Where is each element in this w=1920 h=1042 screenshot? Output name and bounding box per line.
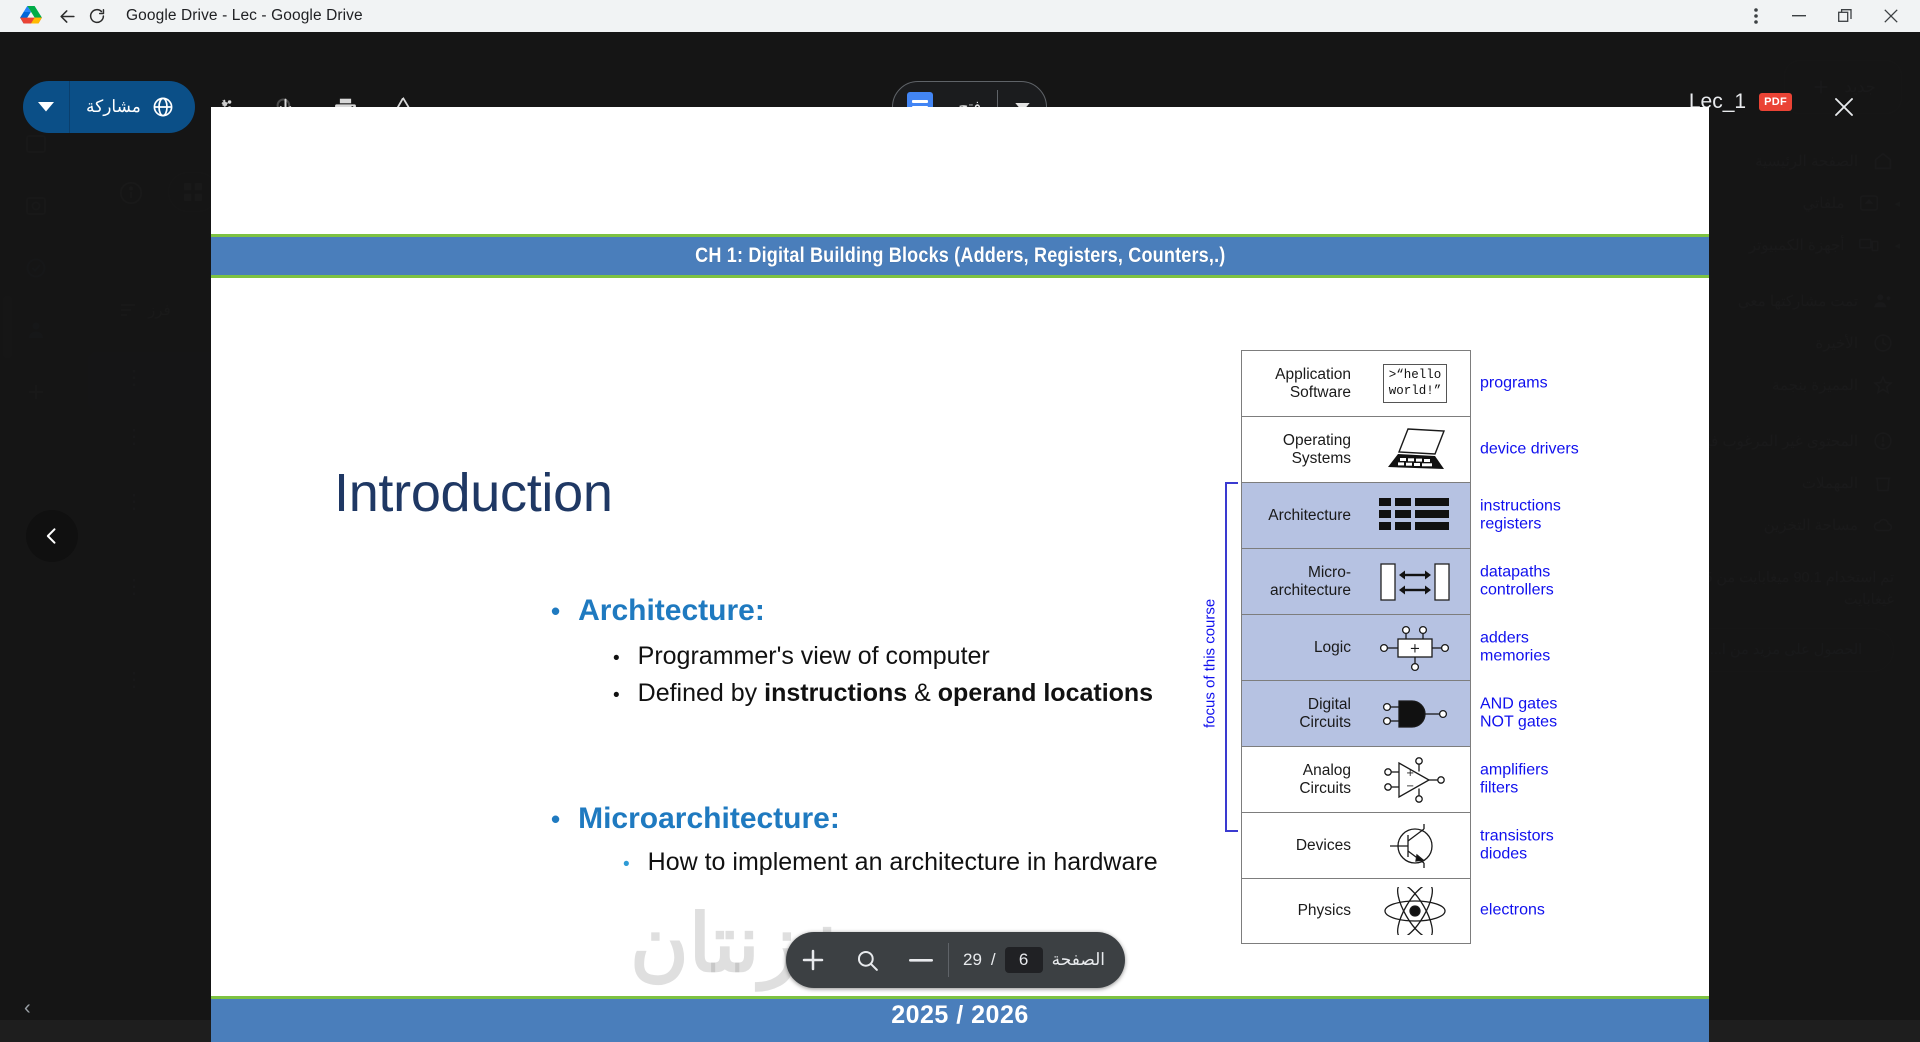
slide-header-band: CH 1: Digital Building Blocks (Adders, R… bbox=[211, 234, 1709, 278]
and-gate-icon bbox=[1360, 681, 1470, 746]
window-controls bbox=[1736, 0, 1914, 32]
transistor-icon bbox=[1360, 813, 1470, 878]
globe-icon bbox=[151, 95, 175, 119]
window-minimize-icon[interactable] bbox=[1776, 0, 1822, 32]
atom-icon bbox=[1360, 879, 1470, 943]
page-controls: الصفحة 6 / 29 bbox=[786, 932, 1125, 988]
browser-reload-button[interactable] bbox=[82, 1, 112, 31]
sub-bullet-text: How to implement an architecture in hard… bbox=[648, 848, 1158, 877]
hello-world-box-icon: >“helloworld!” bbox=[1360, 351, 1470, 416]
page-separator: / bbox=[991, 950, 996, 970]
plus-icon bbox=[801, 948, 825, 972]
previous-file-button[interactable] bbox=[26, 510, 78, 562]
magnifier-icon bbox=[855, 948, 880, 973]
page-prev-arrow-icon[interactable]: ‹ bbox=[24, 997, 31, 1020]
layer-note: AND gatesNOT gates bbox=[1480, 695, 1557, 732]
browser-back-button[interactable] bbox=[52, 1, 82, 31]
pdf-page: CH 1: Digital Building Blocks (Adders, R… bbox=[211, 107, 1709, 1042]
layer-note: electrons bbox=[1480, 902, 1545, 921]
close-icon bbox=[1832, 95, 1856, 119]
svg-text:+: + bbox=[1410, 641, 1421, 656]
layer-name: Architecture bbox=[1242, 507, 1360, 525]
layer-name: DigitalCircuits bbox=[1242, 696, 1360, 732]
layer-digital-circuits: DigitalCircuits AND gatesNOT gates bbox=[1241, 680, 1471, 746]
window-close-icon[interactable] bbox=[1868, 0, 1914, 32]
share-button[interactable]: مشاركة bbox=[23, 81, 195, 133]
viewer-close-button[interactable] bbox=[1824, 87, 1864, 127]
slide-footer-text: 2025 / 2026 bbox=[891, 1001, 1029, 1030]
bullet-dot-icon: • bbox=[623, 855, 630, 874]
chevron-down-icon bbox=[38, 102, 54, 112]
pdf-type-badge: PDF bbox=[1759, 93, 1792, 111]
adder-icon: + bbox=[1360, 615, 1470, 680]
datapath-icon bbox=[1360, 549, 1470, 614]
bullet-heading-label: Architecture: bbox=[578, 594, 765, 628]
opamp-icon: + − bbox=[1360, 747, 1470, 812]
abstraction-layers-diagram: focus of this course ApplicationSoftware… bbox=[1241, 350, 1471, 944]
zoom-reset-button[interactable] bbox=[840, 932, 894, 988]
registers-icon bbox=[1360, 483, 1470, 548]
bullet-heading-label: Microarchitecture: bbox=[578, 802, 840, 836]
zoom-in-button[interactable] bbox=[786, 932, 840, 988]
layer-note: amplifiersfilters bbox=[1480, 761, 1548, 798]
share-main-action[interactable]: مشاركة bbox=[70, 81, 195, 133]
layer-name: OperatingSystems bbox=[1242, 432, 1360, 468]
bullet-dot-icon: • bbox=[551, 598, 560, 624]
sub-bullet: • Programmer's view of computer bbox=[613, 642, 1153, 671]
layer-microarchitecture: Micro-architecture datapathscontrollers bbox=[1241, 548, 1471, 614]
layer-name: ApplicationSoftware bbox=[1242, 366, 1360, 402]
share-dropdown-button[interactable] bbox=[23, 81, 69, 133]
sub-bullet: • How to implement an architecture in ha… bbox=[623, 848, 1158, 877]
zoom-out-button[interactable] bbox=[894, 932, 948, 988]
current-page-input[interactable]: 6 bbox=[1005, 947, 1043, 973]
layer-note: instructionsregisters bbox=[1480, 497, 1561, 534]
svg-text:−: − bbox=[1406, 781, 1414, 792]
bullet-dot-icon: • bbox=[551, 806, 560, 832]
layer-name: Devices bbox=[1242, 837, 1360, 855]
bullet-block-microarchitecture: • Microarchitecture: • How to implement … bbox=[551, 802, 1158, 885]
page-word-label: الصفحة bbox=[1052, 950, 1105, 970]
share-divider bbox=[69, 81, 70, 133]
share-label: مشاركة bbox=[86, 97, 141, 117]
page-indicator: الصفحة 6 / 29 bbox=[949, 947, 1125, 973]
slide-footer-band: 2025 / 2026 bbox=[211, 996, 1709, 1042]
pdf-viewer-overlay: مشاركة bbox=[0, 32, 1920, 1020]
page-controls-divider bbox=[948, 943, 949, 977]
layer-architecture: Architecture instructionsregisters bbox=[1241, 482, 1471, 548]
layer-note: device drivers bbox=[1480, 440, 1579, 459]
layer-devices: Devices transistorsdiodes bbox=[1241, 812, 1471, 878]
bullet-sublist: • How to implement an architecture in ha… bbox=[551, 848, 1158, 877]
chevron-left-circle-icon bbox=[42, 526, 62, 546]
bullet-heading: • Microarchitecture: bbox=[551, 802, 1158, 836]
layer-name: AnalogCircuits bbox=[1242, 762, 1360, 798]
layer-note: transistorsdiodes bbox=[1480, 827, 1554, 864]
sub-bullet-text: Defined by instructions & operand locati… bbox=[638, 679, 1153, 708]
layer-analog-circuits: AnalogCircuits + − amplifiersfilters bbox=[1241, 746, 1471, 812]
focus-of-course-label: focus of this course bbox=[1199, 498, 1221, 828]
laptop-icon bbox=[1360, 417, 1470, 482]
layer-physics: Physics electrons bbox=[1241, 878, 1471, 944]
bullet-dot-icon: • bbox=[613, 686, 620, 705]
slide-title: Introduction bbox=[334, 462, 613, 524]
window-restore-icon[interactable] bbox=[1822, 0, 1868, 32]
bullet-dot-icon: • bbox=[613, 649, 620, 668]
sub-bullet-text: Programmer's view of computer bbox=[638, 642, 990, 671]
layer-note: addersmemories bbox=[1480, 629, 1550, 666]
layer-note: datapathscontrollers bbox=[1480, 563, 1554, 600]
bullet-sublist: • Programmer's view of computer • Define… bbox=[551, 642, 1153, 708]
bullet-block-architecture: • Architecture: • Programmer's view of c… bbox=[551, 594, 1153, 716]
layer-note: programs bbox=[1480, 374, 1548, 393]
layer-operating-systems: OperatingSystems device drivers bbox=[1241, 416, 1471, 482]
layer-application-software: ApplicationSoftware >“helloworld!” progr… bbox=[1241, 350, 1471, 416]
layer-name: Logic bbox=[1242, 639, 1360, 657]
layer-name: Physics bbox=[1242, 902, 1360, 920]
browser-tab-title: Google Drive - Lec - Google Drive bbox=[126, 7, 363, 25]
layer-logic: Logic + addersmemories bbox=[1241, 614, 1471, 680]
browser-kebab-menu-icon[interactable] bbox=[1736, 0, 1776, 32]
bullet-heading: • Architecture: bbox=[551, 594, 1153, 628]
slide-header-text: CH 1: Digital Building Blocks (Adders, R… bbox=[695, 244, 1225, 268]
google-drive-logo bbox=[20, 6, 42, 26]
focus-bracket bbox=[1225, 482, 1238, 832]
svg-text:+: + bbox=[1406, 768, 1414, 779]
browser-tab-bar: Google Drive - Lec - Google Drive bbox=[0, 0, 1920, 32]
layer-name: Micro-architecture bbox=[1242, 564, 1360, 600]
minus-icon bbox=[909, 959, 933, 962]
sub-bullet: • Defined by instructions & operand loca… bbox=[613, 679, 1153, 708]
total-pages-label: 29 bbox=[963, 950, 982, 970]
